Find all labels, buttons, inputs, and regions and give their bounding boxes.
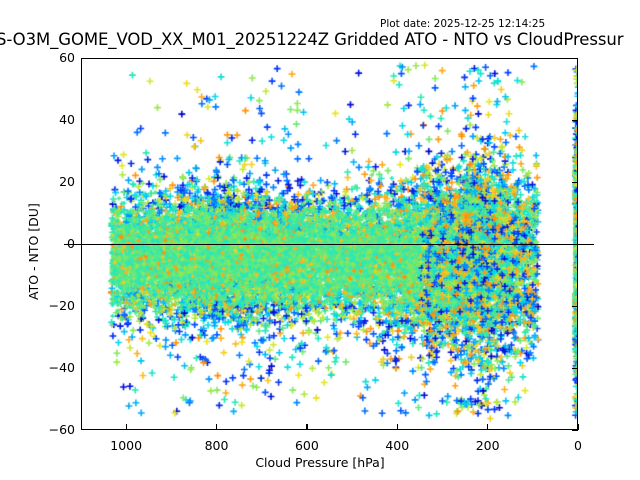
y-tick-label: 20 — [35, 174, 75, 189]
x-tick-label: 1000 — [96, 438, 156, 453]
plot-date-label: Plot date: 2025-12-25 12:14:25 — [380, 18, 545, 30]
y-axis-label: ATO - NTO [DU] — [26, 203, 41, 300]
x-axis-label: Cloud Pressure [hPa] — [0, 455, 640, 470]
x-tick-label: 600 — [277, 438, 337, 453]
y-tick-label: −60 — [35, 422, 75, 437]
x-tick-label: 200 — [458, 438, 518, 453]
x-tick-label: 400 — [367, 438, 427, 453]
y-tick-label: 60 — [35, 50, 75, 65]
plot-title: S-O3M_GOME_VOD_XX_M01_20251224Z Gridded … — [0, 30, 640, 49]
y-tick-label: −20 — [35, 298, 75, 313]
zero-reference-line — [64, 244, 594, 245]
y-tick-label: −40 — [35, 360, 75, 375]
x-tick-label: 0 — [548, 438, 608, 453]
x-tick-label: 800 — [187, 438, 247, 453]
plot-figure: Plot date: 2025-12-25 12:14:25 S-O3M_GOM… — [0, 0, 640, 480]
y-tick-label: 40 — [35, 112, 75, 127]
